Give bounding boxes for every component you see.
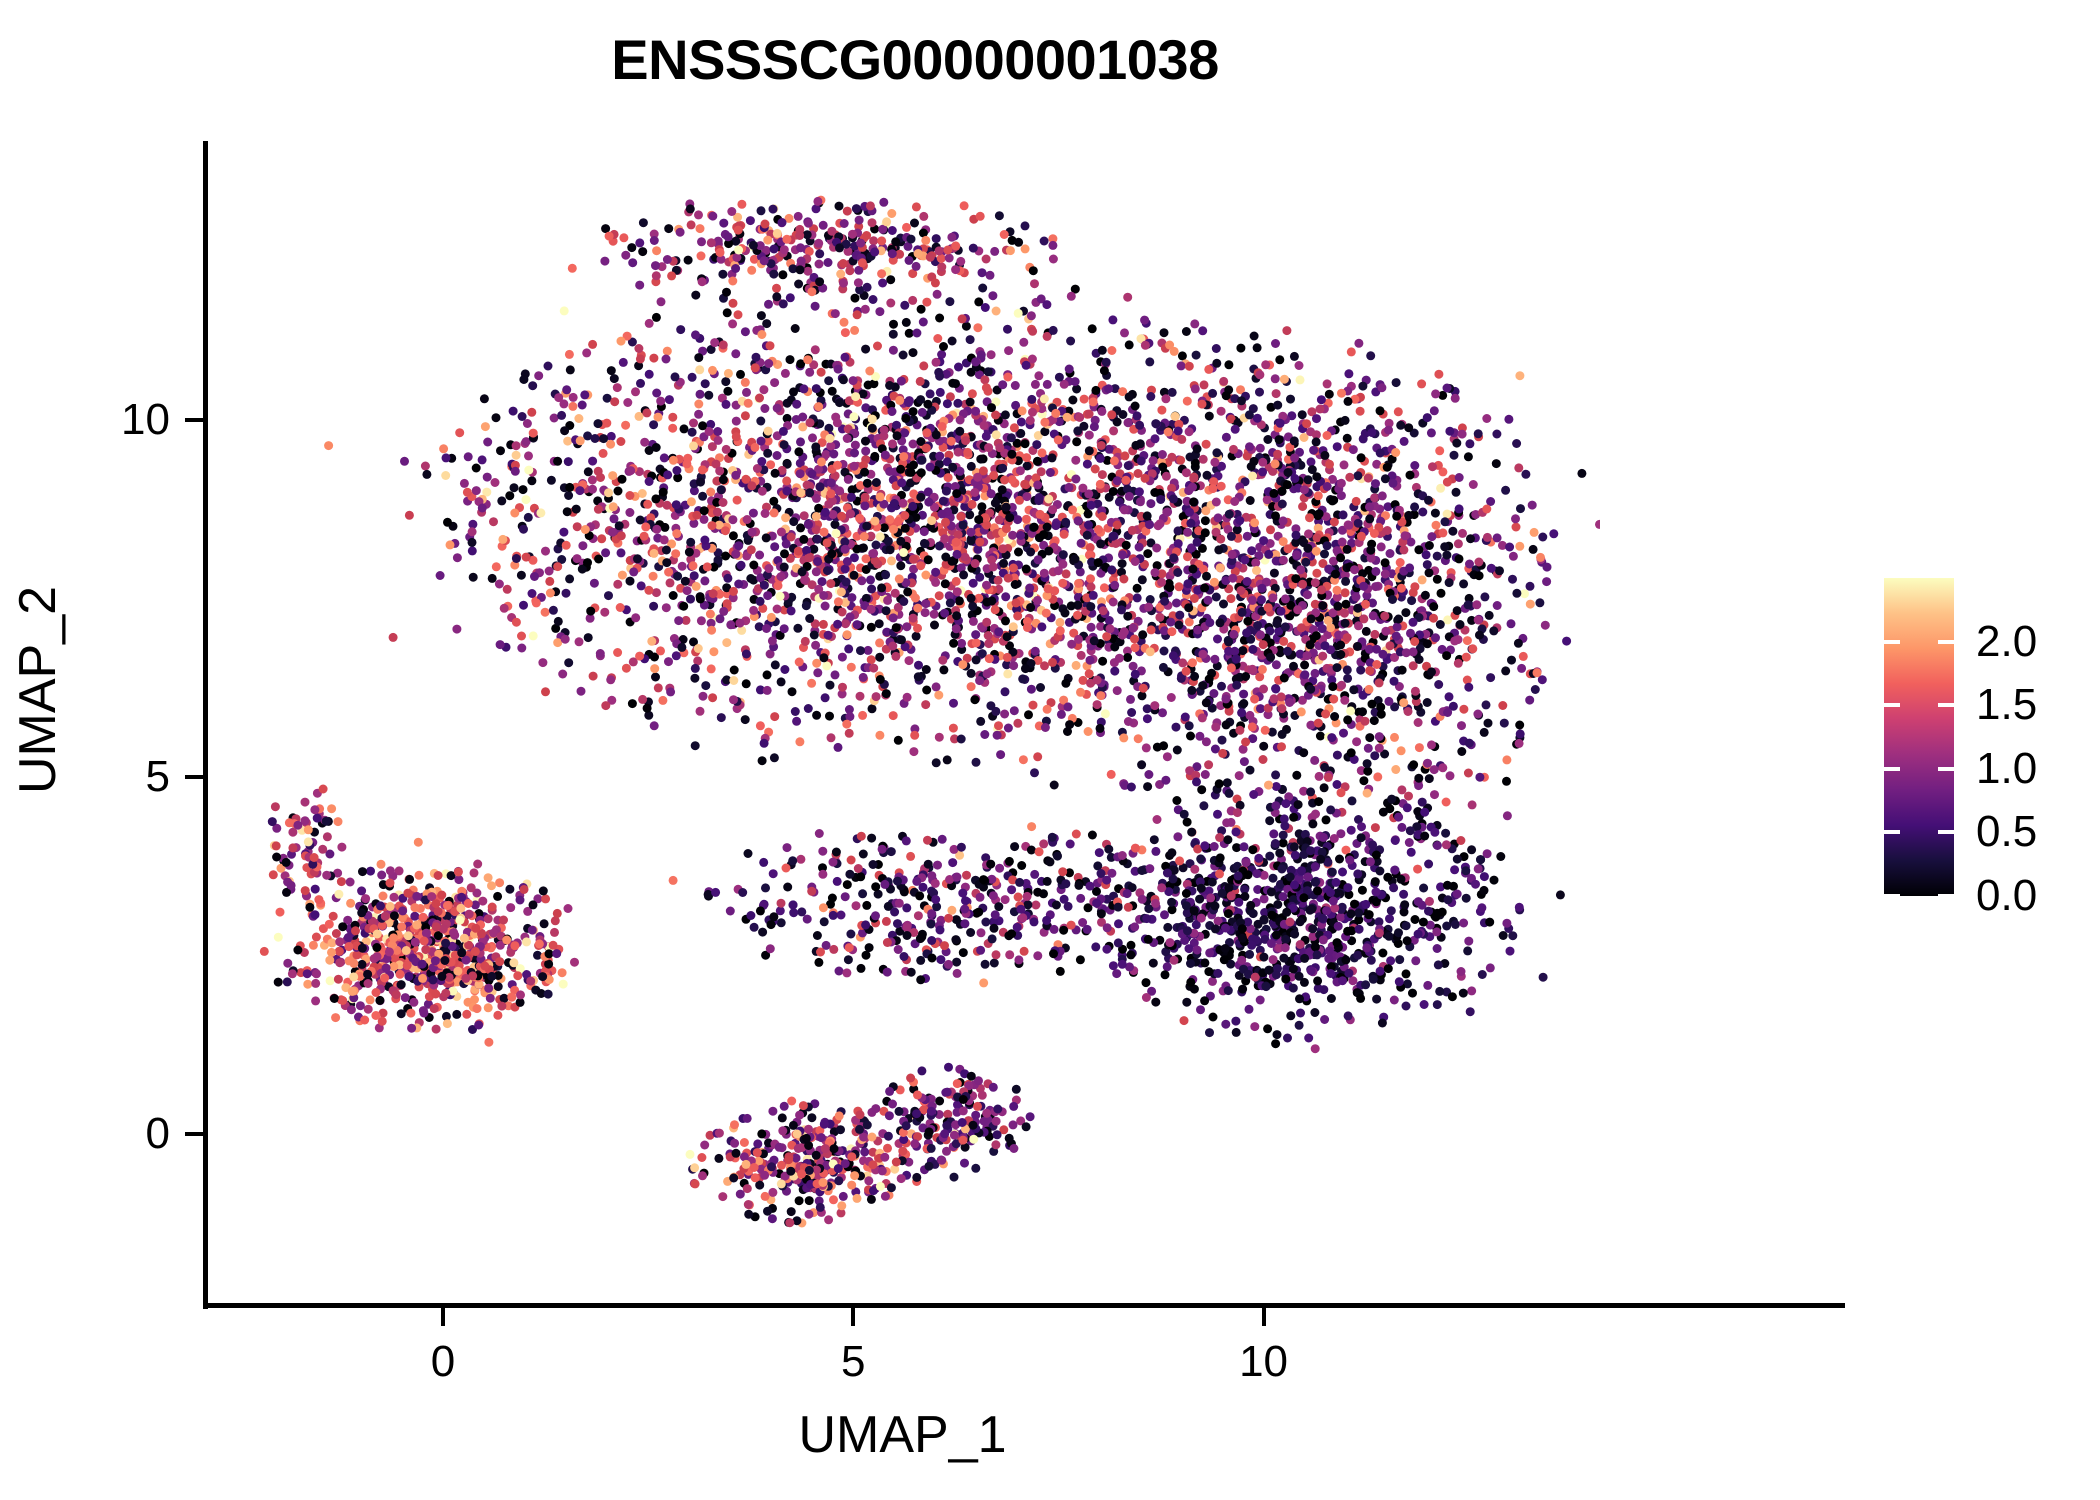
y-tick-label: 0	[30, 1112, 170, 1156]
color-legend-gradient	[1884, 578, 1954, 896]
legend-tick-mark	[1938, 830, 1954, 834]
y-tick-mark	[185, 418, 203, 422]
y-axis-title: UMAP_2	[8, 430, 68, 950]
y-axis-line	[203, 141, 208, 1309]
legend-tick-mark	[1938, 767, 1954, 771]
scatter-plot-panel	[205, 141, 1600, 1305]
y-tick-mark	[185, 1132, 203, 1136]
scatter-points	[205, 141, 1600, 1305]
legend-tick-mark	[1884, 767, 1900, 771]
legend-tick-label: 0.5	[1976, 810, 2100, 854]
legend-tick-label: 0.0	[1976, 874, 2100, 918]
y-tick-mark	[185, 775, 203, 779]
legend-tick-label: 1.0	[1976, 747, 2100, 791]
legend-tick-mark	[1884, 703, 1900, 707]
legend-tick-label: 1.5	[1976, 683, 2100, 727]
x-tick-label: 10	[1184, 1340, 1344, 1384]
x-axis-line	[203, 1303, 1845, 1308]
legend-tick-mark	[1884, 830, 1900, 834]
chart-canvas: ENSSSCG00000001038 0510 0510 UMAP_2 UMAP…	[0, 0, 2100, 1500]
legend-tick-mark	[1884, 894, 1900, 898]
color-legend	[1884, 578, 1954, 896]
x-tick-label: 5	[773, 1340, 933, 1384]
x-tick-mark	[851, 1308, 855, 1326]
page-title: ENSSSCG00000001038	[0, 32, 1830, 88]
legend-tick-mark	[1938, 894, 1954, 898]
x-tick-label: 0	[363, 1340, 523, 1384]
x-tick-mark	[1262, 1308, 1266, 1326]
legend-tick-mark	[1884, 640, 1900, 644]
legend-tick-label: 2.0	[1976, 620, 2100, 664]
legend-tick-mark	[1938, 640, 1954, 644]
x-tick-mark	[441, 1308, 445, 1326]
x-axis-title: UMAP_1	[205, 1405, 1600, 1465]
legend-tick-mark	[1938, 703, 1954, 707]
